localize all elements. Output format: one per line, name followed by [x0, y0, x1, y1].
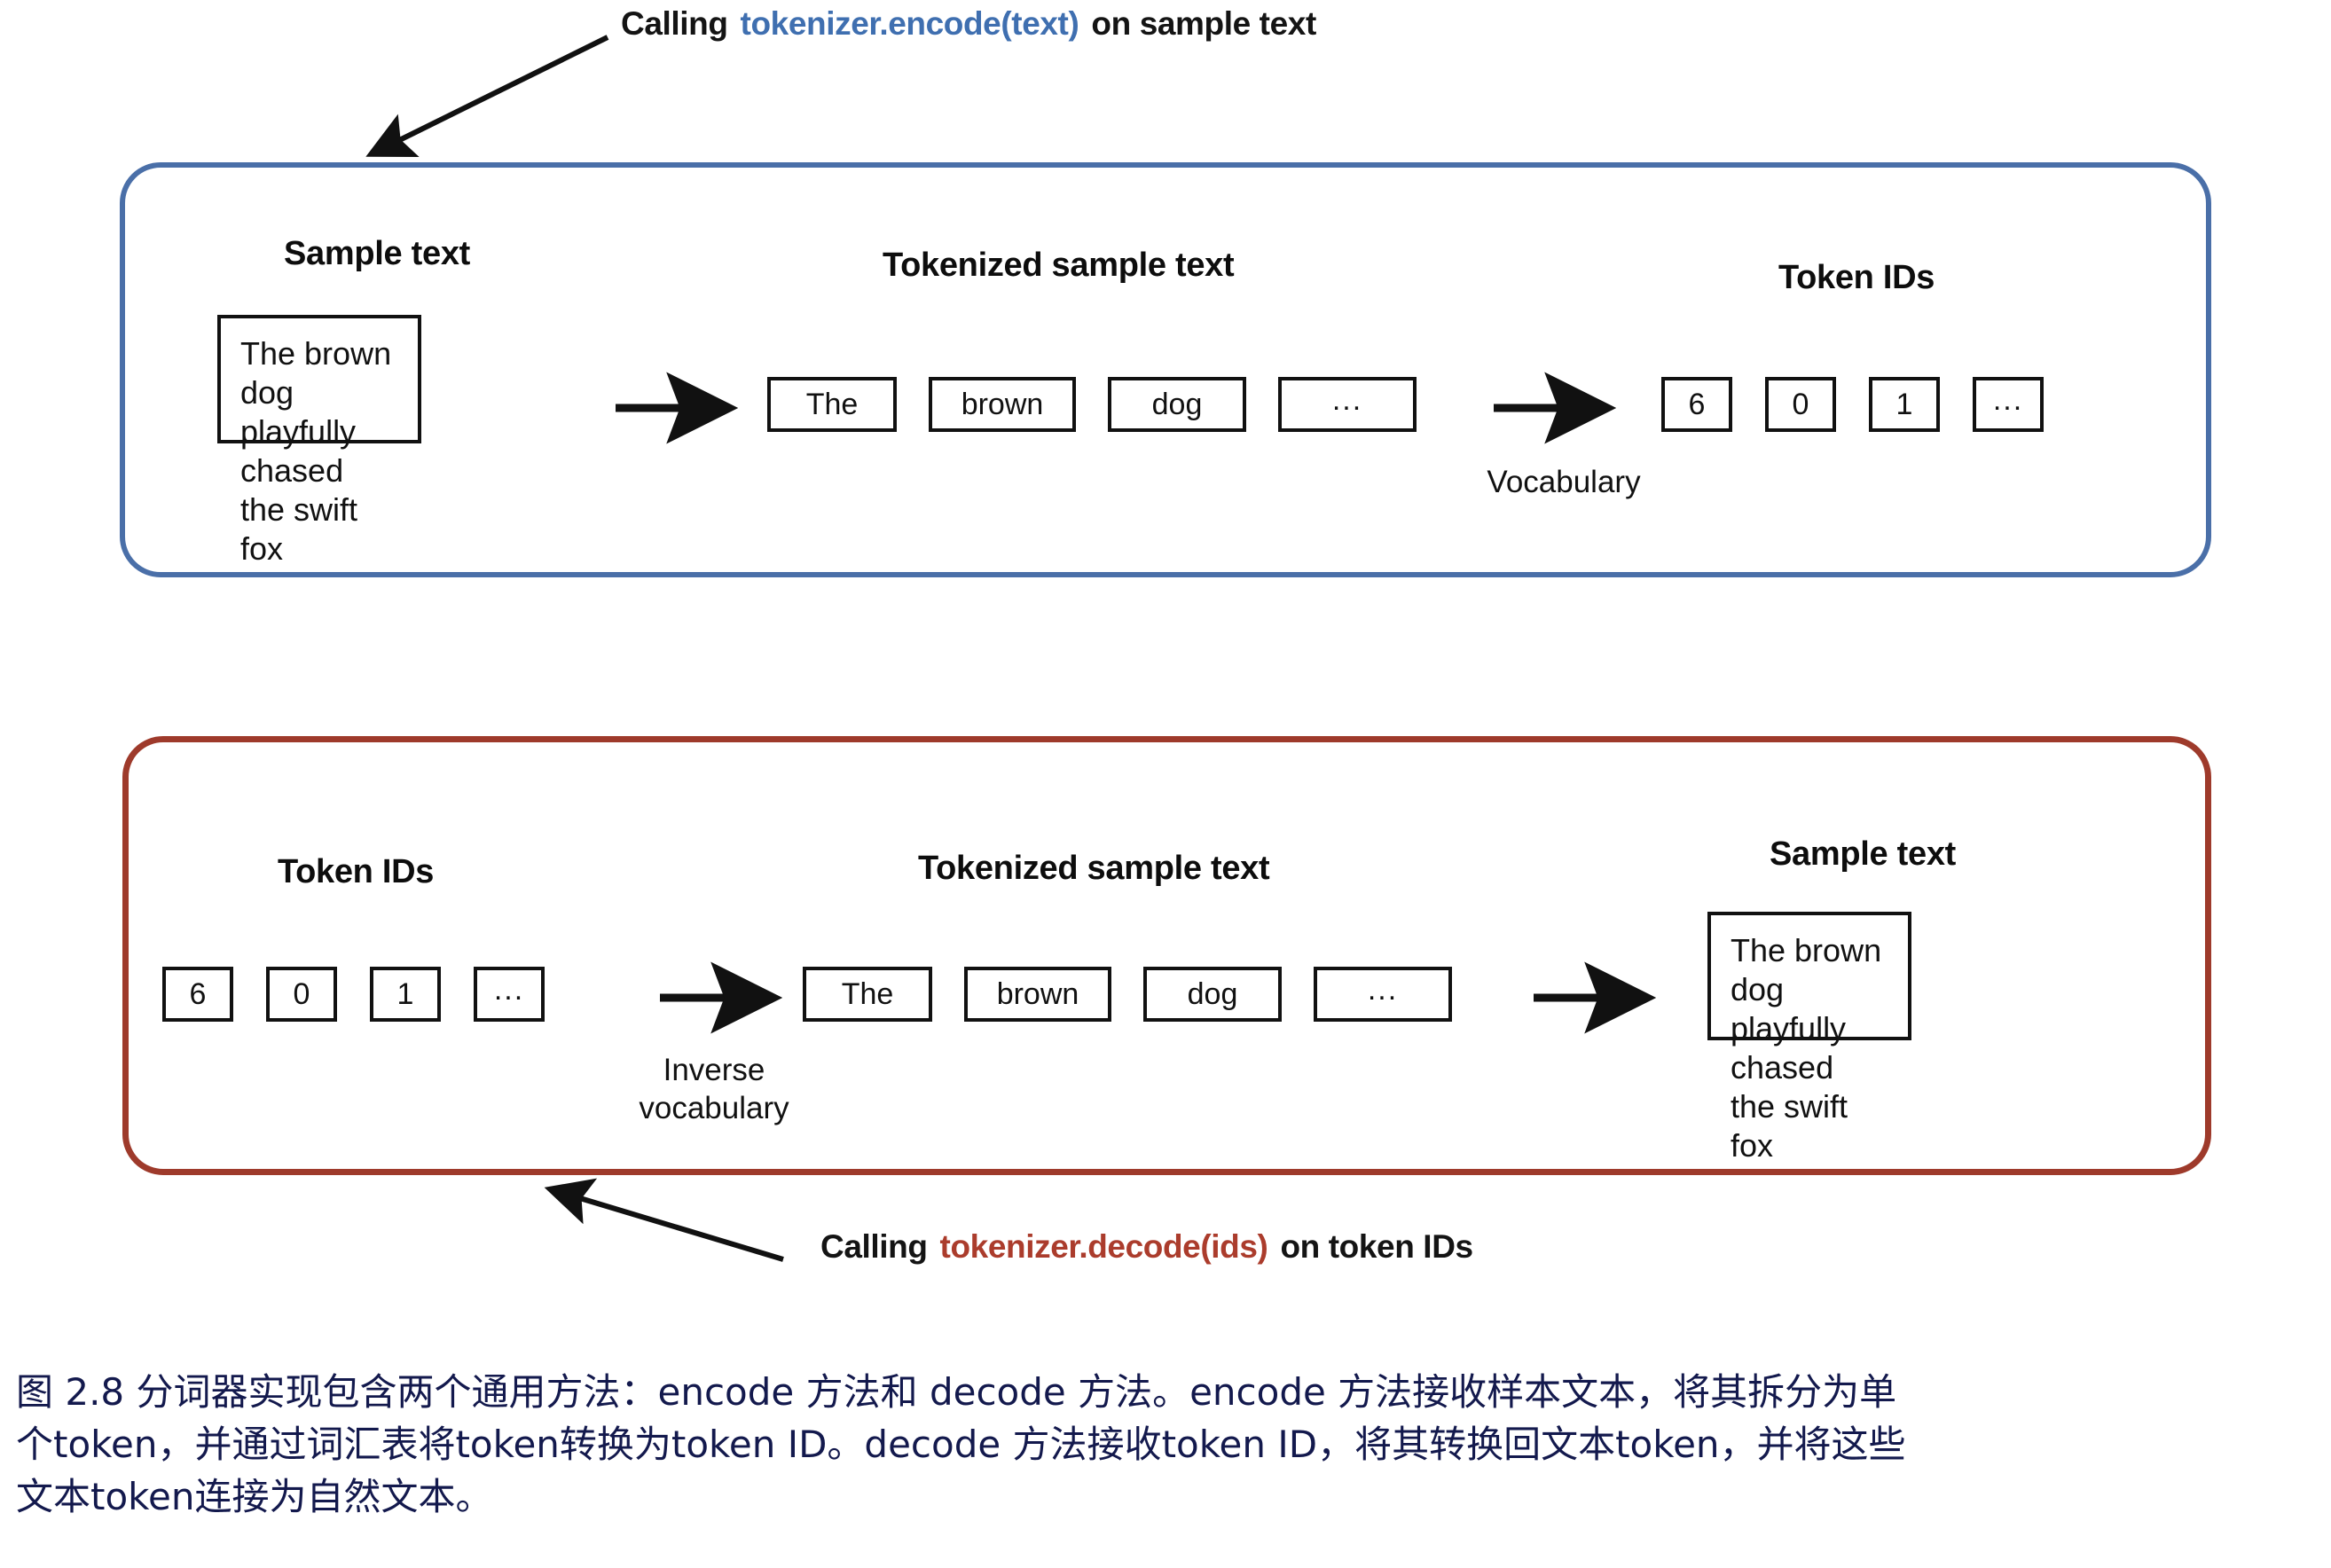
- encode-annotation-prefix: Calling: [621, 5, 728, 42]
- decode-tokenized-heading: Tokenized sample text: [918, 850, 1269, 888]
- encode-annotation-arrow: [355, 18, 621, 177]
- figure-caption: 图 2.8 分词器实现包含两个通用方法：encode 方法和 decode 方法…: [16, 1366, 2322, 1523]
- encode-panel: [120, 162, 2211, 577]
- encode-token-id-cell: 6: [1661, 377, 1732, 432]
- decode-annotation-code: tokenizer.decode(ids): [940, 1228, 1268, 1265]
- vocabulary-label: Vocabulary: [1453, 463, 1675, 501]
- encode-token-row: The brown dog ...: [767, 377, 1417, 432]
- encode-token-id-cell: 0: [1765, 377, 1836, 432]
- encode-token-cell: The: [767, 377, 897, 432]
- inverse-vocabulary-label: Inverse vocabulary: [581, 1051, 847, 1127]
- decode-token-cell-ellipsis: ...: [1314, 967, 1452, 1022]
- decode-token-id-cell: 0: [266, 967, 337, 1022]
- encode-tokenized-heading: Tokenized sample text: [883, 247, 1234, 285]
- decode-sample-text-heading: Sample text: [1770, 835, 1956, 874]
- decode-arrow-tokens-to-text: [1530, 980, 1672, 1015]
- decode-token-cell: The: [803, 967, 932, 1022]
- encode-sample-text-heading: Sample text: [284, 235, 470, 273]
- encode-token-id-cell: 1: [1869, 377, 1940, 432]
- decode-token-cell: dog: [1143, 967, 1282, 1022]
- encode-annotation-suffix: on sample text: [1091, 5, 1315, 42]
- decode-arrow-ids-to-tokens: [656, 980, 798, 1015]
- decode-token-id-cell-ellipsis: ...: [474, 967, 545, 1022]
- figure-caption-line: 图 2.8 分词器实现包含两个通用方法：encode 方法和 decode 方法…: [16, 1366, 2322, 1418]
- figure-caption-line: 文本token连接为自然文本。: [16, 1470, 2322, 1523]
- decode-token-id-cell: 1: [370, 967, 441, 1022]
- decode-token-row: The brown dog ...: [803, 967, 1452, 1022]
- figure-caption-line: 个token，并通过词汇表将token转换为token ID。decode 方法…: [16, 1418, 2322, 1470]
- decode-token-id-row: 6 0 1 ...: [162, 967, 545, 1022]
- encode-token-cell: brown: [929, 377, 1076, 432]
- decode-token-cell: brown: [964, 967, 1111, 1022]
- decode-sample-text-box: The brown dog playfully chased the swift…: [1707, 912, 1911, 1040]
- encode-token-id-row: 6 0 1 ...: [1661, 377, 2044, 432]
- encode-token-ids-heading: Token IDs: [1778, 259, 1935, 297]
- decode-token-id-cell: 6: [162, 967, 233, 1022]
- encode-annotation: Callingtokenizer.encode(text)on sample t…: [621, 5, 1316, 43]
- encode-arrow-tokens-to-ids: [1490, 390, 1632, 426]
- encode-token-cell: dog: [1108, 377, 1246, 432]
- encode-token-id-cell-ellipsis: ...: [1973, 377, 2044, 432]
- encode-annotation-code: tokenizer.encode(text): [741, 5, 1079, 42]
- decode-annotation: Callingtokenizer.decode(ids)on token IDs: [820, 1228, 1473, 1266]
- decode-annotation-suffix: on token IDs: [1280, 1228, 1472, 1265]
- decode-annotation-prefix: Calling: [820, 1228, 928, 1265]
- encode-sample-text-box: The brown dog playfully chased the swift…: [217, 315, 421, 443]
- decode-token-ids-heading: Token IDs: [278, 853, 434, 891]
- encode-token-cell-ellipsis: ...: [1278, 377, 1417, 432]
- decode-annotation-arrow: [532, 1171, 798, 1277]
- encode-arrow-text-to-tokens: [612, 390, 754, 426]
